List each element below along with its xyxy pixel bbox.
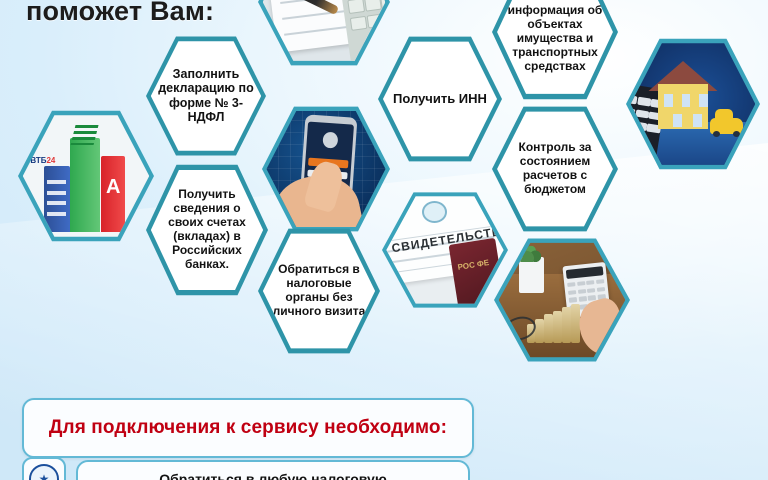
federal-tax-service-emblem-icon: ★ [22, 457, 66, 480]
hexagon-label: Обратиться в налоговые органы без личног… [270, 263, 369, 319]
connect-service-banner: Для подключения к сервису необходимо: [22, 398, 474, 458]
hexagon-certificate: СВИДЕТЕЛЬСТВО РОС ФЕ [382, 190, 508, 310]
smartphone-in-hand-icon [266, 109, 385, 230]
hexagon-banks-logos: A ВТБ24 [18, 108, 154, 244]
hexagon-property-info[interactable]: Вся информация об объектах имущества и т… [492, 0, 618, 102]
hexagon-bank-accounts-info[interactable]: Получить сведения о своих счетах (вклада… [146, 162, 268, 298]
house-car-calculator-icon [631, 41, 756, 167]
hexagon-tax-document [258, 0, 390, 68]
hexagon-get-inn[interactable]: Получить ИНН [378, 34, 502, 164]
hexagon-no-visit[interactable]: Обратиться в налоговые органы без личног… [258, 226, 380, 356]
hexagon-budget-control[interactable]: Контроль за состоянием расчетов с бюджет… [492, 104, 618, 234]
step-label: Обратиться в любую налоговую [76, 460, 470, 480]
hexagon-label: Получить сведения о своих счетах (вклада… [158, 188, 257, 271]
connect-service-title: Для подключения к сервису необходимо: [49, 416, 447, 440]
calculator-coins-desk-icon [499, 240, 625, 359]
hexagon-label: Контроль за состоянием расчетов с бюджет… [504, 141, 606, 197]
hexagon-house-car [626, 36, 760, 172]
certificate-passport-icon: СВИДЕТЕЛЬСТВО РОС ФЕ [386, 194, 503, 306]
hexagon-label: Заполнить декларацию по форме № 3-НДФЛ [157, 67, 254, 125]
page-title: поможет Вам: [26, 0, 214, 27]
passport-caption: РОС ФЕ [457, 258, 490, 272]
hexagon-calculator-coins [494, 236, 630, 364]
hexagon-mobile-phone [262, 104, 390, 234]
step-row: ★ Обратиться в любую налоговую [22, 462, 470, 480]
hexagon-label: Вся информация об объектах имущества и т… [504, 0, 606, 74]
hexagon-label: Получить ИНН [390, 87, 490, 112]
bank-buildings-icon: A ВТБ24 [23, 113, 149, 239]
infographic-slide: поможет Вам: A ВТБ24 [0, 0, 768, 480]
document-pen-calculator-icon [263, 0, 386, 63]
hexagon-declaration-3ndfl[interactable]: Заполнить декларацию по форме № 3-НДФЛ [146, 34, 266, 158]
